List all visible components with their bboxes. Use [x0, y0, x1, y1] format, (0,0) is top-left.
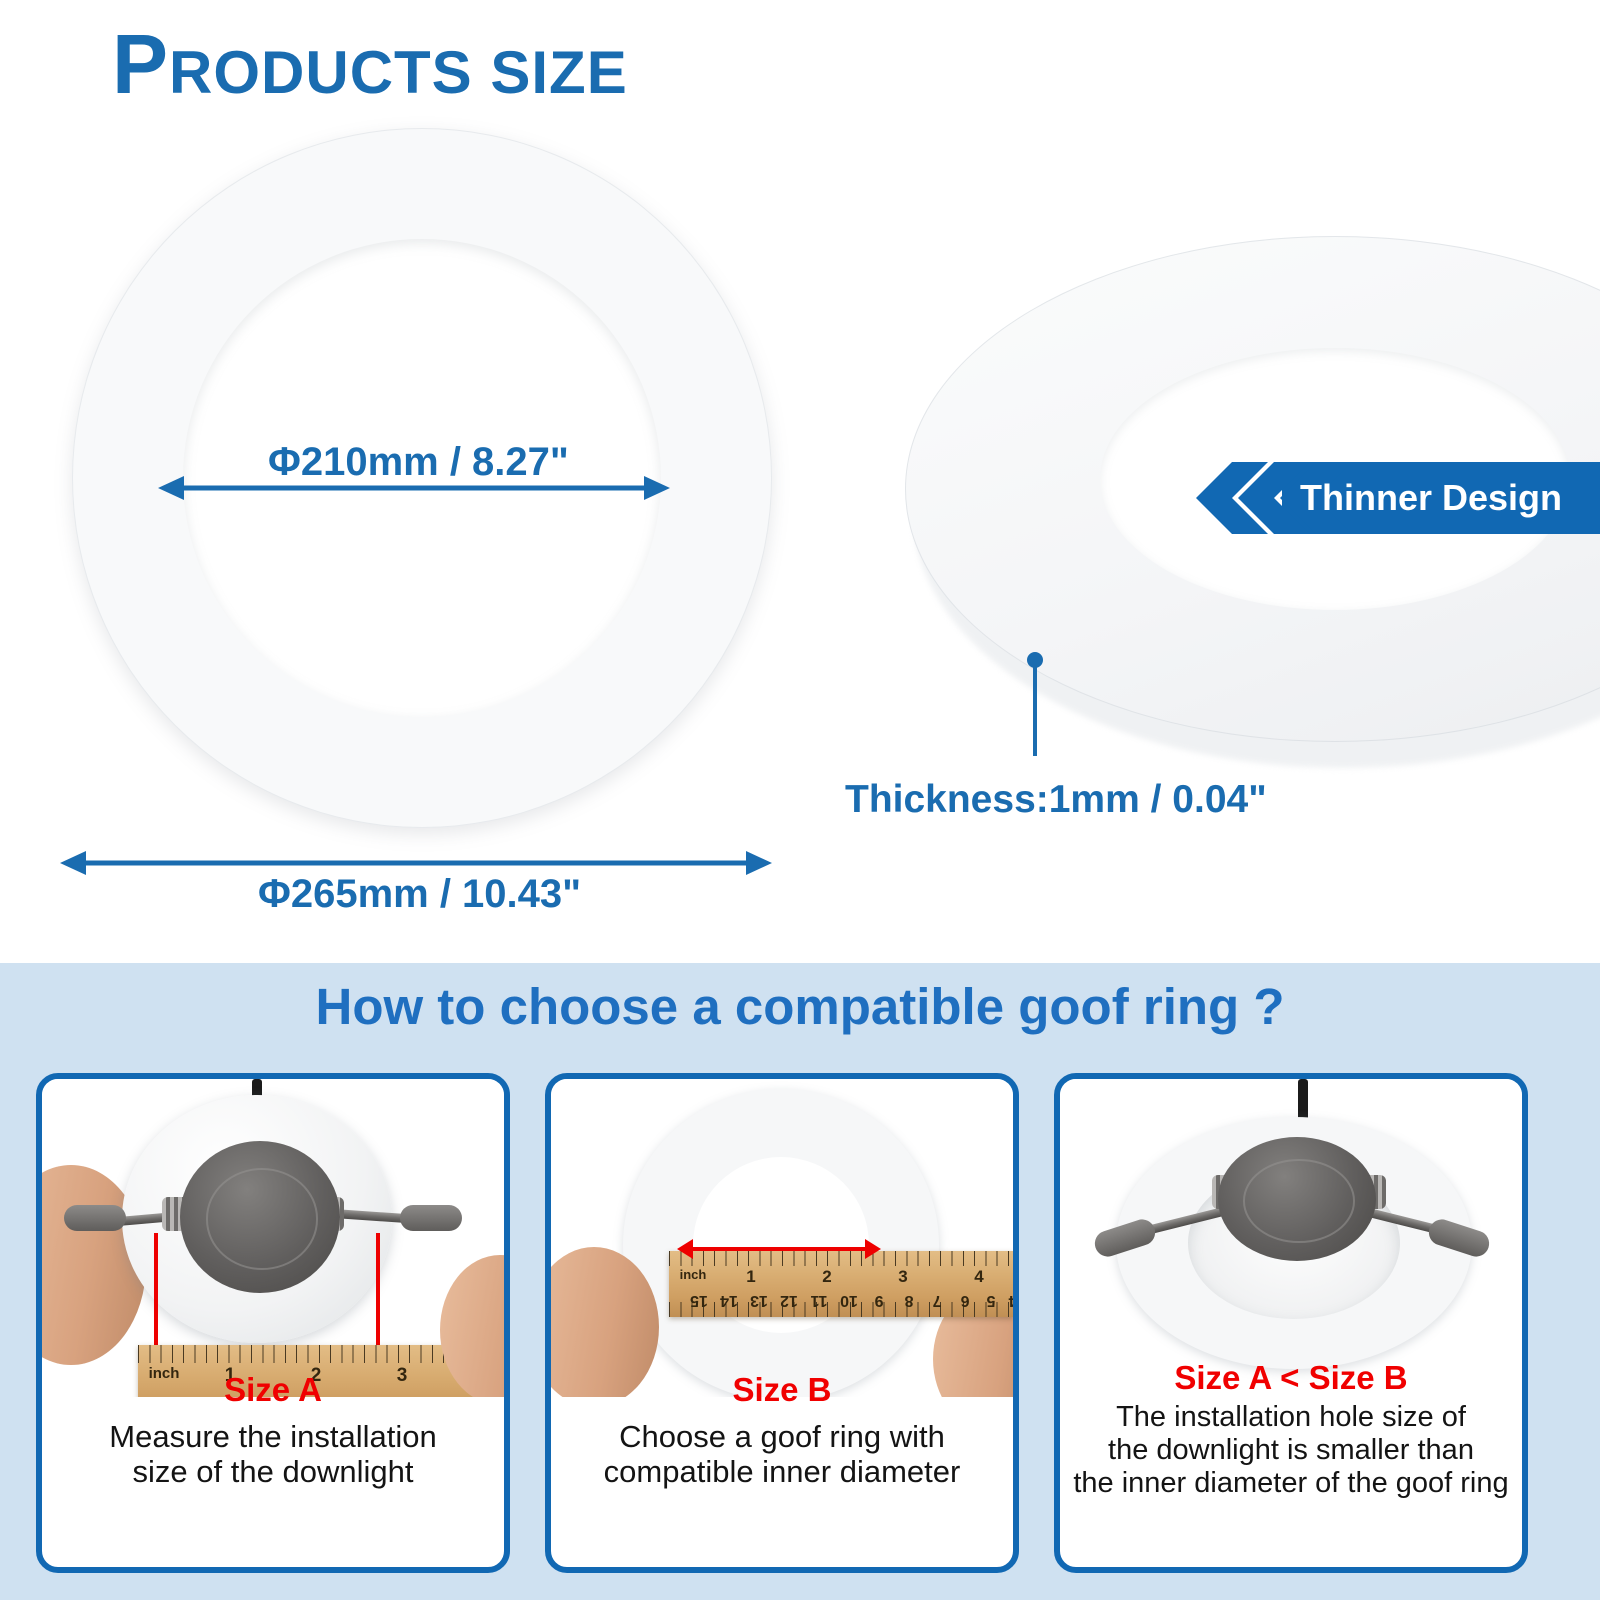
ruler-number: 2	[822, 1267, 831, 1287]
size-tag: Size A	[42, 1371, 504, 1409]
size-tag: Size A < Size B	[1060, 1359, 1522, 1397]
size-tag: Size B	[551, 1371, 1013, 1409]
photo-hand-holding-downlight-with-ruler: inch 1 2 3 4 15 14 13 12 11 10 9 8	[42, 1079, 504, 1397]
measure-line-right	[376, 1233, 380, 1349]
thickness-leader-line-icon	[1020, 650, 1050, 760]
ruler-number: 1	[746, 1267, 755, 1287]
how-to-choose-heading: How to choose a compatible goof ring ?	[0, 977, 1600, 1036]
thinner-design-label: Thinner Design	[1300, 462, 1600, 534]
ruler-number: 9	[875, 1291, 884, 1309]
ruler-ticks-top	[669, 1251, 1013, 1266]
photo-hands-holding-goof-ring-with-ruler: inch 1 2 3 4 15 14 13 12 11 10 9 8	[551, 1079, 1013, 1397]
step-panel-measure-downlight: inch 1 2 3 4 15 14 13 12 11 10 9 8	[36, 1073, 510, 1573]
wooden-ruler: inch 1 2 3 4 15 14 13 12 11 10 9 8	[669, 1251, 1013, 1317]
clip-tab-left	[64, 1205, 126, 1231]
thickness-label: Thickness:1mm / 0.04"	[845, 778, 1267, 822]
ruler-number: 14	[720, 1291, 738, 1309]
inner-diameter-measure-arrow	[691, 1247, 869, 1251]
ruler-number: 10	[840, 1291, 858, 1309]
ruler-number: 5	[987, 1291, 996, 1309]
downlight-driver-cap	[180, 1141, 340, 1293]
ruler-number: 4	[1009, 1291, 1013, 1309]
product-size-infographic: PRODUCTS SIZE Φ210mm / 8.27" Φ265mm / 10…	[0, 0, 1600, 1600]
measure-arrow-head-right	[865, 1239, 881, 1259]
ruler-number: 3	[898, 1267, 907, 1287]
ruler-number: 15	[690, 1291, 708, 1309]
ruler-number: 8	[905, 1291, 914, 1309]
driver-cap-label-ring	[206, 1168, 319, 1269]
ruler-number: 11	[811, 1291, 828, 1309]
goof-ring-sample	[623, 1089, 939, 1397]
step-panel-installed-result: Size A < Size B The installation hole si…	[1054, 1073, 1528, 1573]
page-title: PRODUCTS SIZE	[112, 22, 628, 106]
step-panel-choose-goof-ring: inch 1 2 3 4 15 14 13 12 11 10 9 8	[545, 1073, 1019, 1573]
inner-diameter-arrow-icon	[158, 470, 670, 506]
photo-downlight-installed-in-goof-ring	[1060, 1079, 1522, 1397]
thinner-design-banner: Thinner Design	[1196, 462, 1600, 534]
ruler-number: 6	[961, 1291, 970, 1309]
panel-caption: The installation hole size of the downli…	[1068, 1401, 1514, 1499]
ruler-number: 12	[780, 1291, 798, 1309]
how-to-choose-section: How to choose a compatible goof ring ?	[0, 963, 1600, 1600]
driver-cap-label-ring	[1243, 1159, 1354, 1242]
measure-line-left	[154, 1233, 158, 1349]
page-title-rest: RODUCTS SIZE	[169, 39, 628, 106]
clip-tab-right	[400, 1205, 462, 1231]
outer-diameter-arrow-icon	[60, 845, 772, 881]
ruler-unit-label: inch	[680, 1267, 707, 1282]
ruler-number: 7	[933, 1291, 942, 1309]
measure-arrow-head-left	[677, 1239, 693, 1259]
ruler-number: 13	[750, 1291, 768, 1309]
panel-caption: Choose a goof ring with compatible inner…	[559, 1419, 1005, 1490]
page-title-initial: P	[112, 17, 169, 111]
downlight-driver-cap	[1218, 1137, 1376, 1261]
ruler-number: 4	[974, 1267, 983, 1287]
products-size-section: PRODUCTS SIZE Φ210mm / 8.27" Φ265mm / 10…	[0, 0, 1600, 963]
panel-caption: Measure the installation size of the dow…	[50, 1419, 496, 1490]
